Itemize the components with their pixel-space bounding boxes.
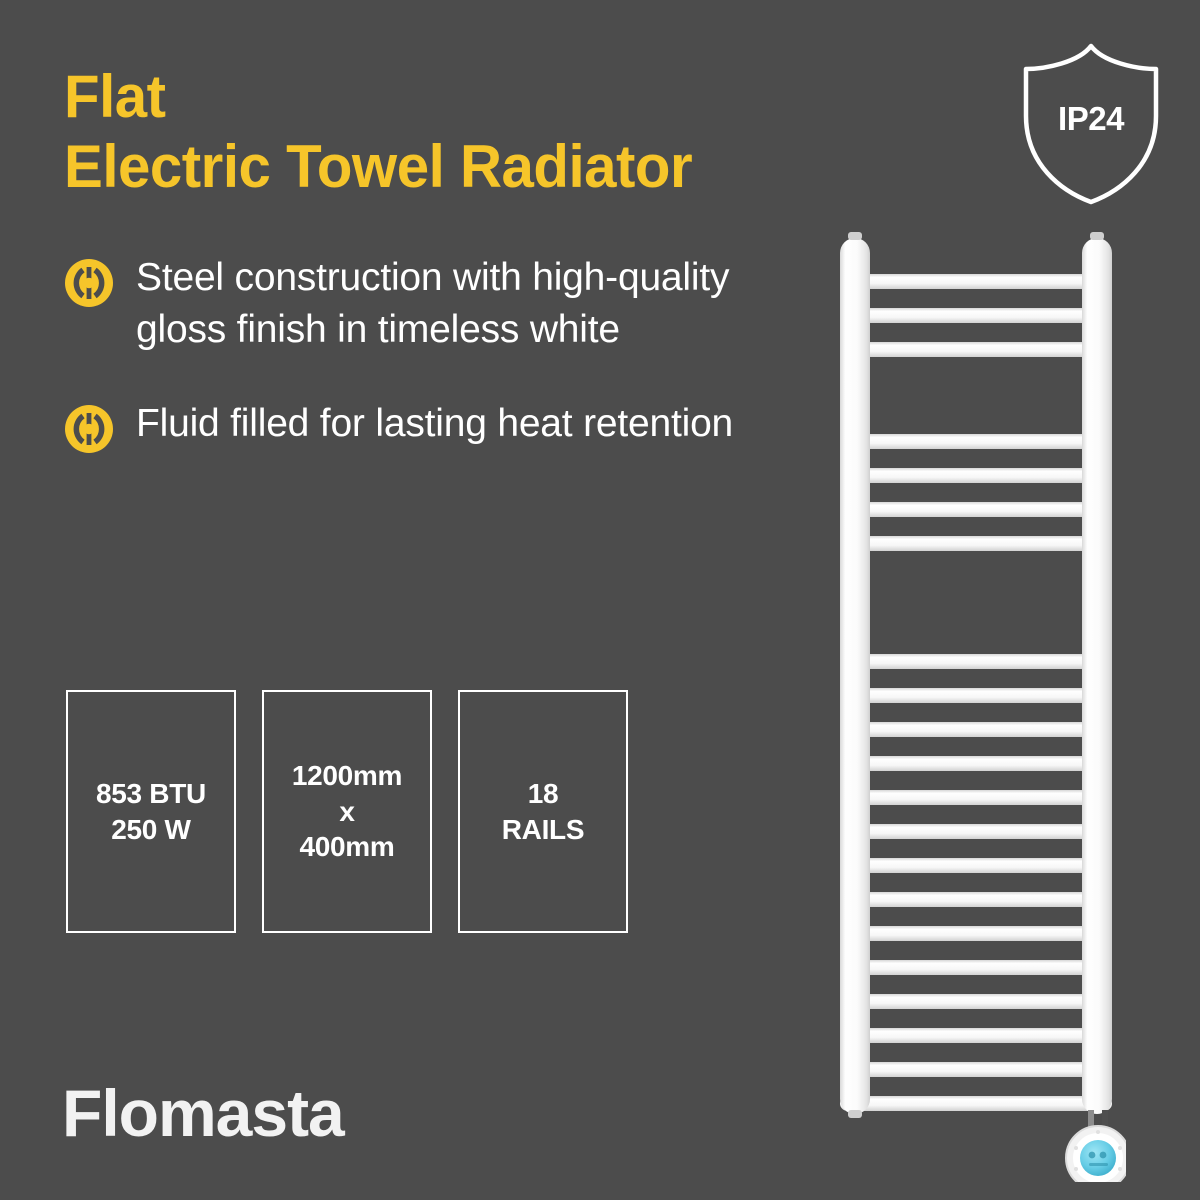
control-display[interactable]	[1080, 1140, 1116, 1176]
radiator-left-post	[840, 232, 870, 1118]
page-title: Flat Electric Towel Radiator	[64, 62, 824, 201]
flomasta-bullet-icon	[64, 404, 114, 454]
brand-logo-text: Flomasta	[62, 1078, 346, 1150]
spec-text-dimensions: 1200mm x 400mm	[292, 758, 402, 865]
feature-list: Steel construction with high-quality glo…	[64, 252, 744, 496]
spec-text-rails: 18 RAILS	[502, 776, 585, 848]
feature-text-1: Steel construction with high-quality glo…	[136, 252, 744, 356]
spec-box-dimensions: 1200mm x 400mm	[262, 690, 432, 933]
spec-box-row: 853 BTU 250 W 1200mm x 400mm 18 RAILS	[66, 690, 628, 933]
spec-box-rails: 18 RAILS	[458, 690, 628, 933]
badge-label: IP24	[1016, 100, 1166, 138]
spec-text-output: 853 BTU 250 W	[96, 776, 206, 848]
feature-item-2: Fluid filled for lasting heat retention	[64, 398, 744, 454]
brand-logo-flomasta: Flomasta	[62, 1078, 362, 1152]
feature-item-1: Steel construction with high-quality glo…	[64, 252, 744, 356]
radiator-right-post	[1082, 232, 1112, 1114]
title-line-1: Flat	[64, 62, 801, 132]
electric-element-control[interactable]	[1066, 1110, 1126, 1182]
flomasta-bullet-icon	[64, 258, 114, 308]
title-line-2: Electric Towel Radiator	[64, 132, 801, 202]
feature-text-2: Fluid filled for lasting heat retention	[136, 398, 733, 450]
radiator-rails	[840, 274, 1112, 1111]
product-infographic: Flat Electric Towel Radiator IP24 Steel …	[0, 0, 1200, 1200]
radiator-product-image	[826, 222, 1126, 1182]
spec-box-output: 853 BTU 250 W	[66, 690, 236, 933]
